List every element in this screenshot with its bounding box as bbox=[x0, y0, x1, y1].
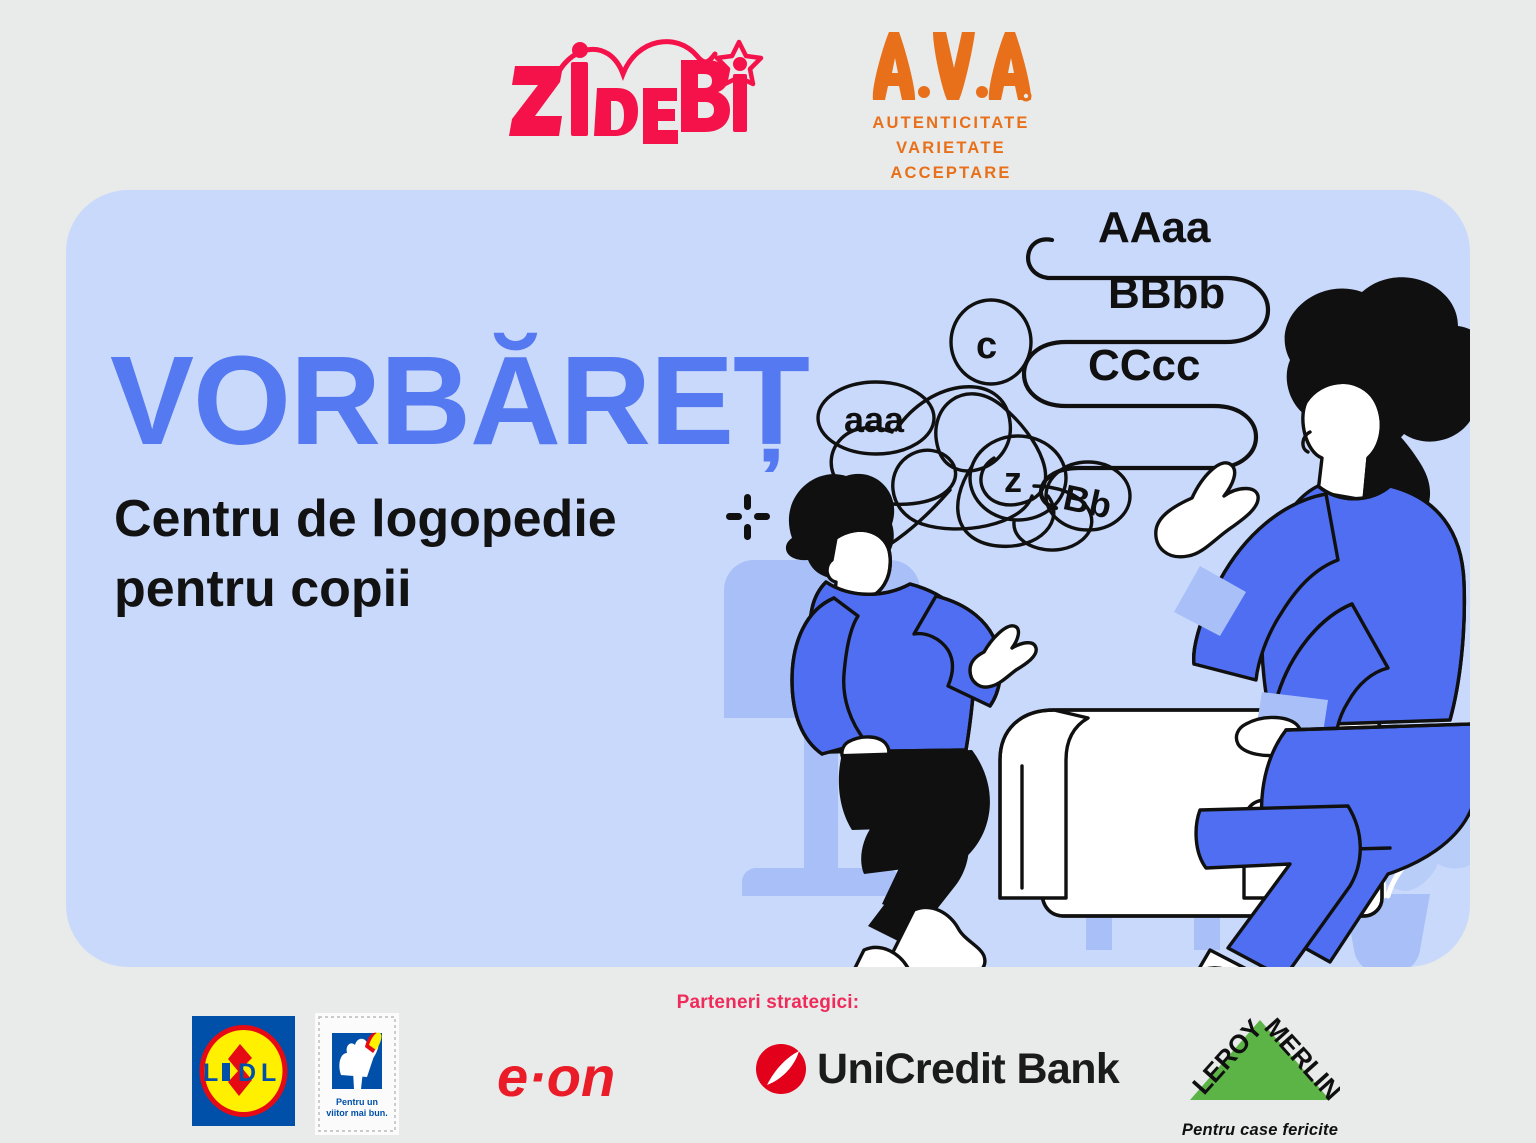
zi-de-bine-mark-ne bbox=[501, 22, 771, 152]
eon-logo-icon: e·on bbox=[497, 1046, 657, 1108]
loop-text-aaa: aaa bbox=[844, 399, 905, 440]
ava-line-2: VARIETATE bbox=[867, 136, 1035, 161]
sponsor-lidl[interactable]: L D L bbox=[192, 1016, 295, 1131]
therapist-figure bbox=[1000, 277, 1470, 967]
svg-text:D: D bbox=[238, 1059, 256, 1087]
lidl-label-line-1: Pentru un bbox=[336, 1097, 378, 1107]
leroy-merlin-tagline: Pentru case fericite bbox=[1180, 1121, 1340, 1140]
ava-mark-icon bbox=[867, 26, 1035, 104]
ava-line-1: AUTENTICITATE bbox=[867, 111, 1035, 136]
ava-tagline-lines: AUTENTICITATE VARIETATE ACCEPTARE bbox=[867, 111, 1035, 186]
ava-logo: AUTENTICITATE VARIETATE ACCEPTARE bbox=[867, 22, 1035, 172]
loop-text-z: z bbox=[1004, 459, 1022, 500]
ribbon-text-2: BBbb bbox=[1108, 269, 1225, 318]
leroy-merlin-logo-icon: LEROY MERLIN bbox=[1180, 1010, 1340, 1114]
lidl-label-line-2: viitor mai bun. bbox=[326, 1108, 388, 1118]
sponsor-eon[interactable]: e·on bbox=[497, 1046, 657, 1113]
sponsor-unicredit-bank[interactable]: UniCredit Bank bbox=[755, 1043, 1119, 1095]
unicredit-wordmark: UniCredit Bank bbox=[817, 1045, 1119, 1094]
poster: AUTENTICITATE VARIETATE ACCEPTARE VORBĂR… bbox=[0, 0, 1536, 1143]
loop-text-bb: Bb bbox=[1060, 476, 1115, 526]
ribbon-text-1: AAaa bbox=[1098, 203, 1211, 252]
zi-de-bine-logo bbox=[501, 22, 771, 152]
ava-line-3: ACCEPTARE bbox=[867, 161, 1035, 186]
sponsor-leroy-merlin[interactable]: LEROY MERLIN Pentru case fericite bbox=[1180, 1010, 1340, 1140]
sparkle-left-icon bbox=[726, 494, 770, 540]
lidl-logo-icon: L D L bbox=[192, 1016, 295, 1126]
hero-card: VORBĂREȚ Centru de logopedie pentru copi… bbox=[66, 190, 1470, 967]
ribbon-text-3: CCcc bbox=[1088, 341, 1201, 390]
svg-text:L: L bbox=[203, 1059, 218, 1087]
hero-illustration: .ln { fill:none; stroke:#101010; stroke-… bbox=[66, 190, 1470, 967]
unicredit-mark-icon bbox=[755, 1043, 807, 1095]
child-figure bbox=[724, 474, 1036, 967]
pentru-un-viitor-mai-bun-icon: Pentru un viitor mai bun. bbox=[315, 1013, 399, 1135]
loop-text-c: c bbox=[976, 325, 997, 367]
header-logos: AUTENTICITATE VARIETATE ACCEPTARE bbox=[0, 22, 1536, 172]
eon-wordmark: e·on bbox=[497, 1046, 615, 1108]
svg-text:L: L bbox=[261, 1059, 276, 1087]
sponsor-lidl-sustainability[interactable]: Pentru un viitor mai bun. bbox=[315, 1013, 399, 1140]
